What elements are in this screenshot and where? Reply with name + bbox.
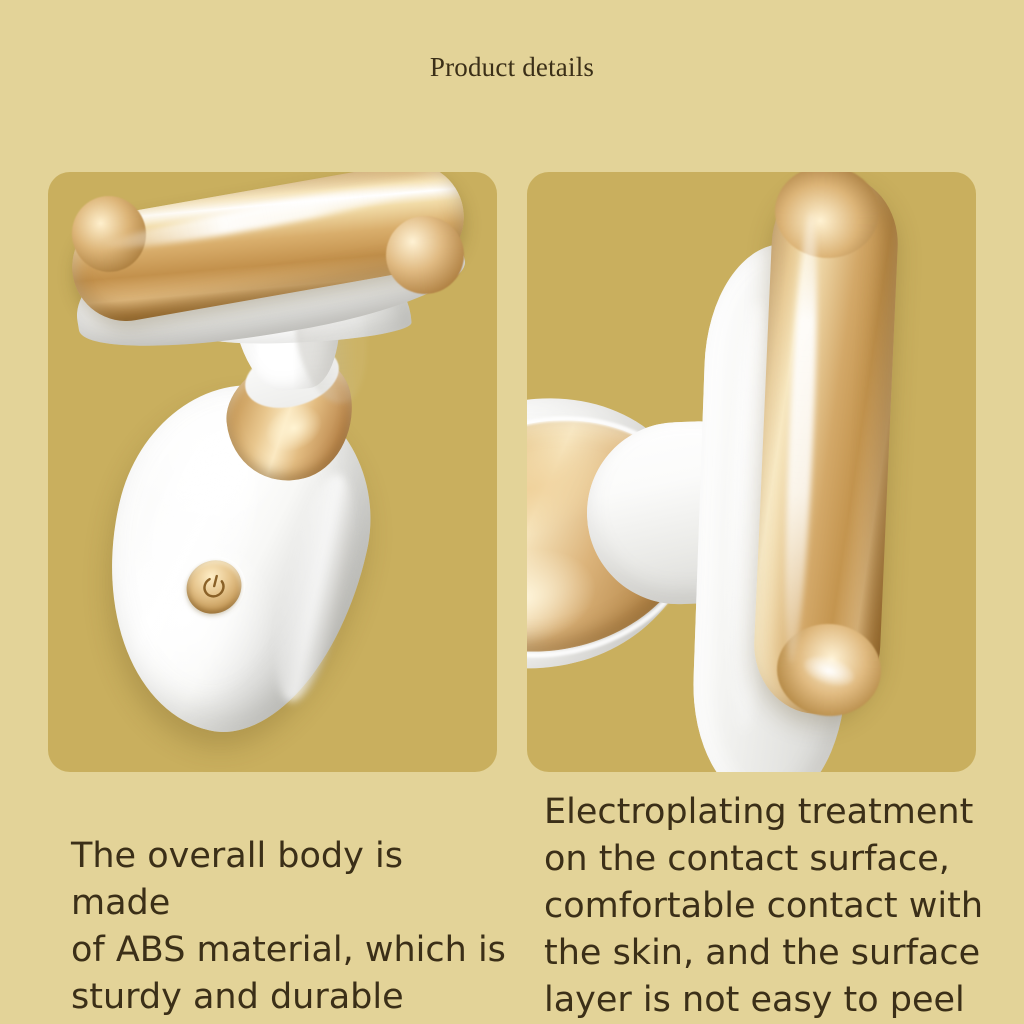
- page-title: Product details: [0, 52, 1024, 83]
- caption-left: The overall body is made of ABS material…: [71, 833, 511, 1021]
- caption-right: Electroplating treatment on the contact …: [544, 789, 994, 1024]
- device-illustration-right: [527, 172, 976, 772]
- product-details-page: Product details: [0, 0, 1024, 1024]
- product-image-panel-right: [527, 172, 976, 772]
- product-image-panel-left: [48, 172, 497, 772]
- device-illustration-left: [48, 172, 497, 772]
- power-icon: [196, 570, 233, 604]
